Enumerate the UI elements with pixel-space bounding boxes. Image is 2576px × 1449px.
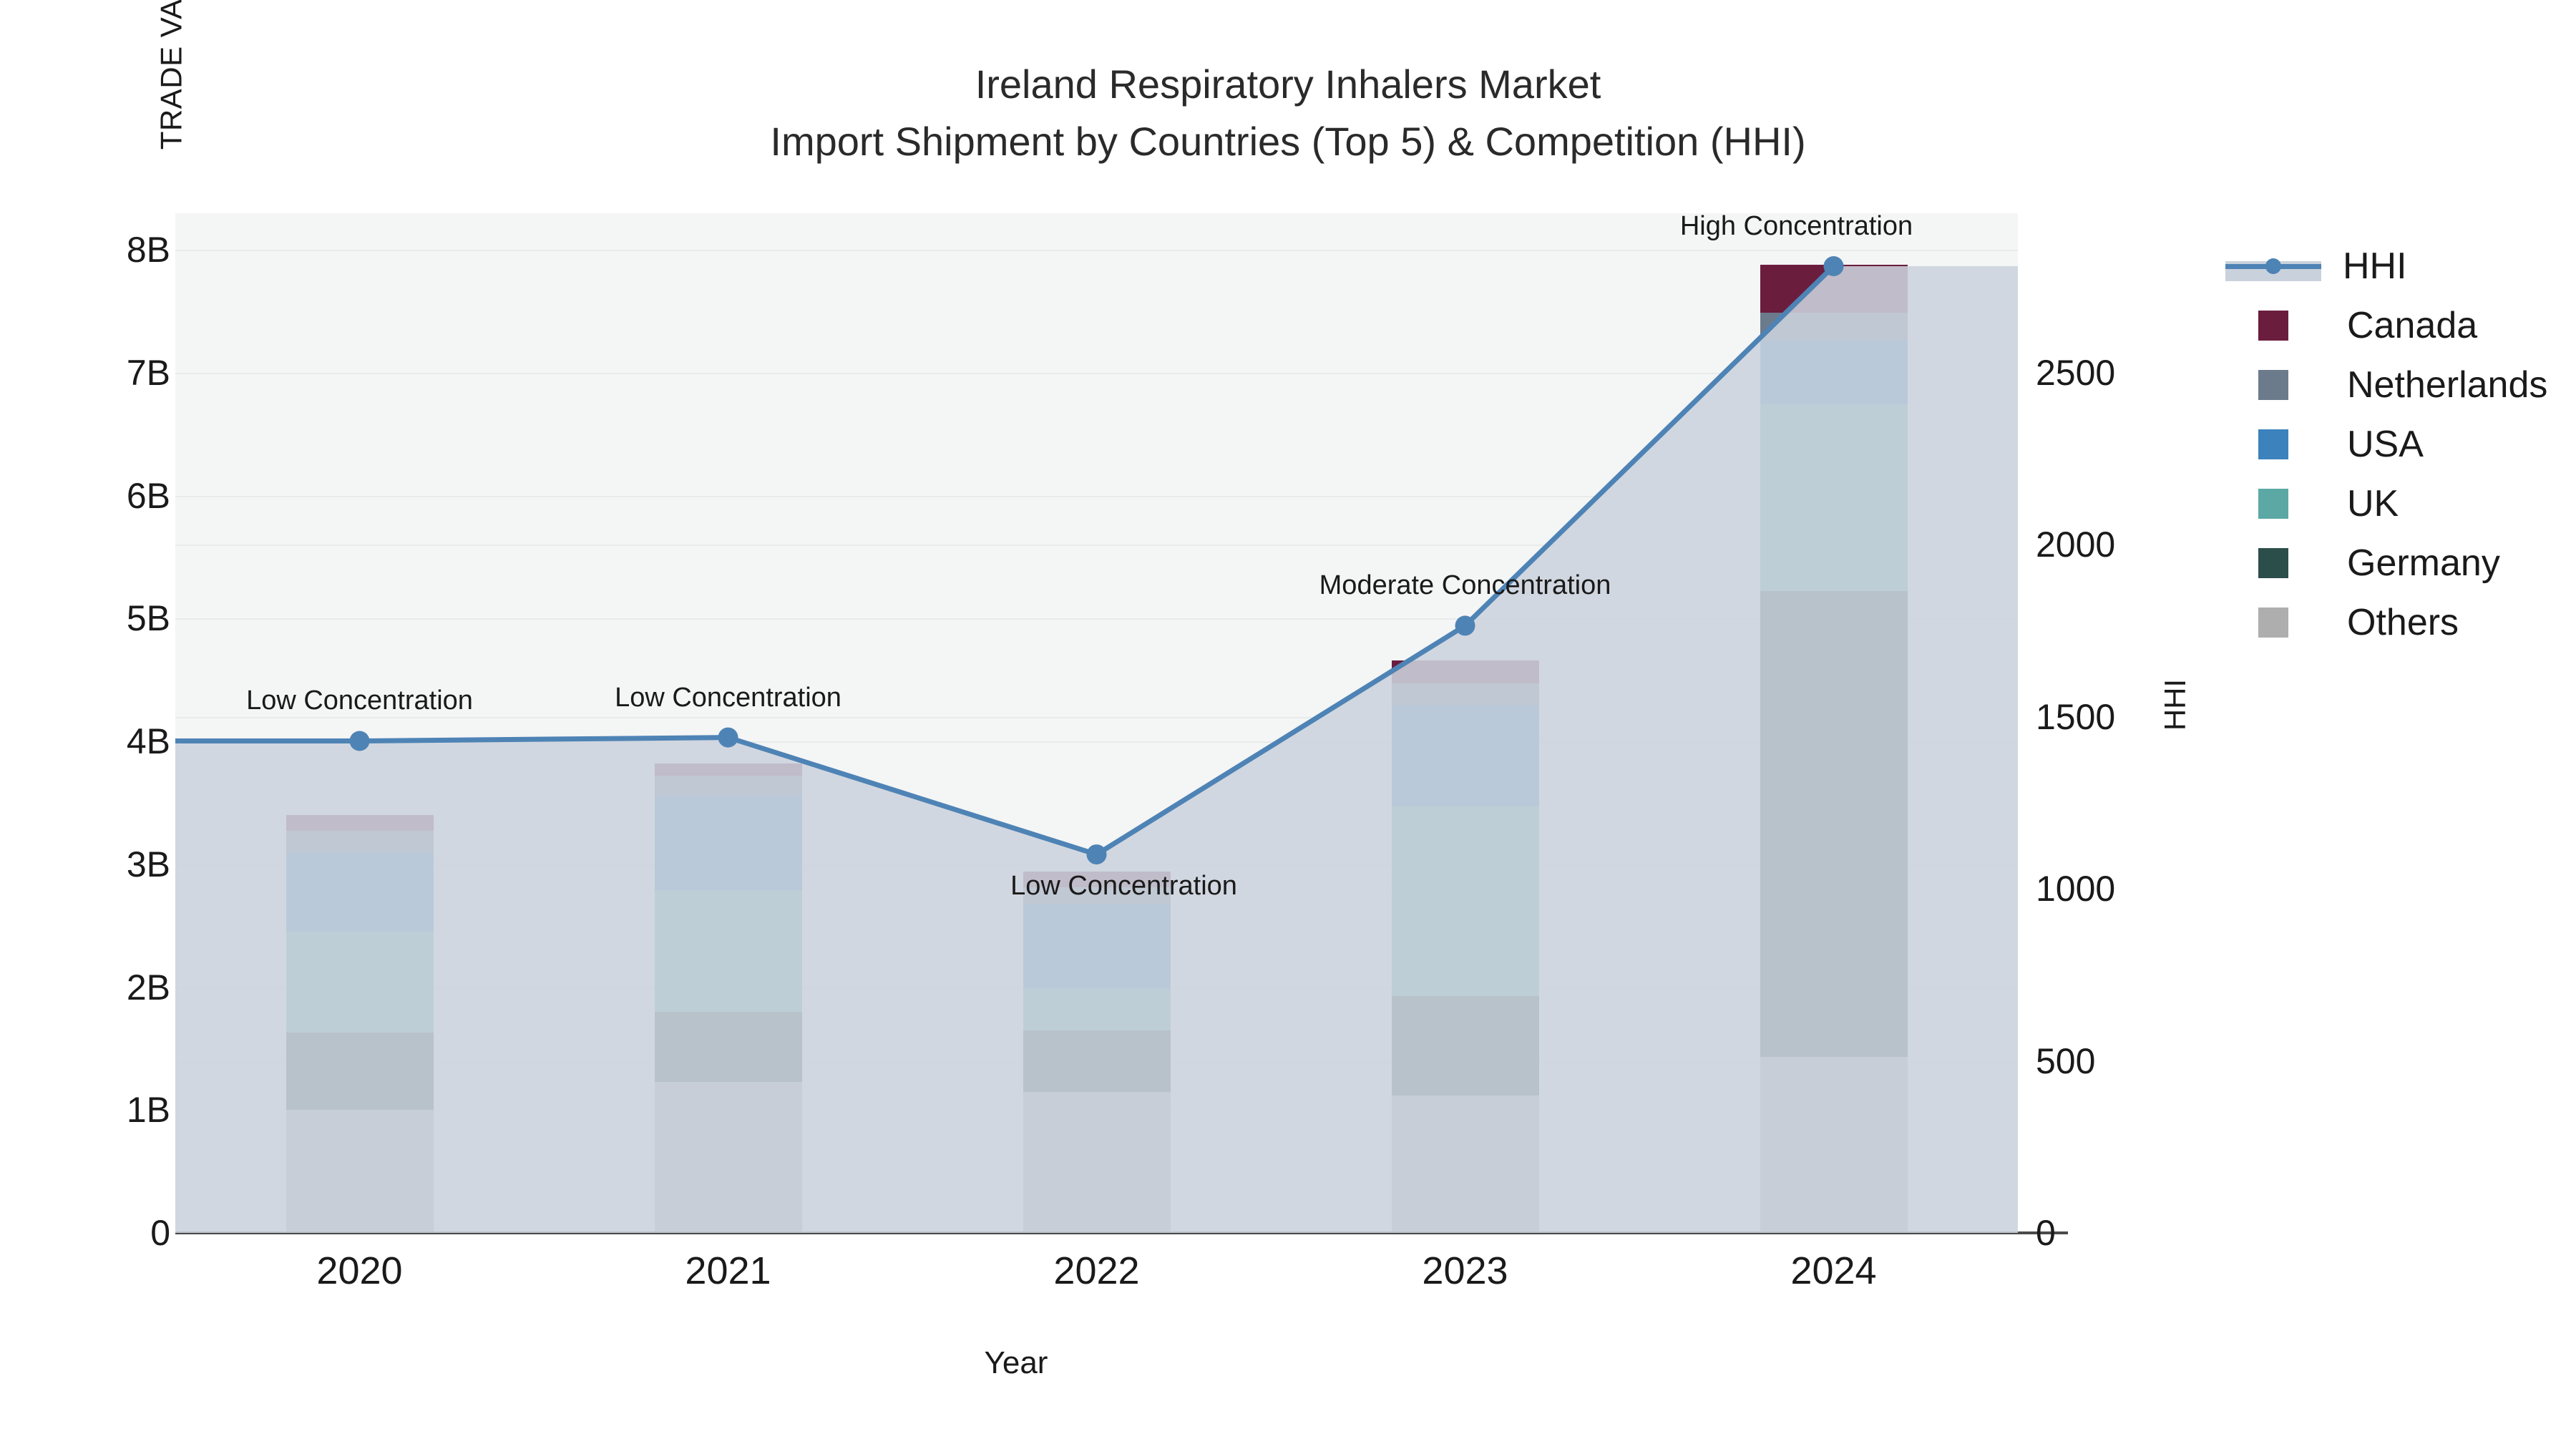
bar-segment-uk-2022[interactable] [1023, 988, 1171, 1030]
legend-label-canada: Canada [2347, 304, 2477, 347]
x-axis-line [175, 1231, 2068, 1234]
y-tick-left-8B: 8B [0, 229, 170, 270]
legend-label-netherlands: Netherlands [2347, 364, 2547, 406]
y-tick-left-7B: 7B [0, 352, 170, 394]
legend-swatch-usa [2258, 429, 2288, 459]
hhi-annotation-2021: Low Concentration [615, 683, 841, 713]
bar-segment-usa-2021[interactable] [655, 796, 802, 890]
bar-segment-germany-2021[interactable] [655, 1012, 802, 1082]
y-tick-left-2B: 2B [0, 967, 170, 1008]
legend-item-others[interactable]: Others [2225, 592, 2547, 652]
y-tick-left-5B: 5B [0, 597, 170, 639]
bar-stack-2020[interactable] [286, 213, 434, 1233]
bar-segment-netherlands-2023[interactable] [1392, 683, 1539, 706]
y-axis-right: 05001000150020002500 [2029, 0, 2265, 1449]
legend-item-hhi[interactable]: HHI [2225, 236, 2547, 296]
bar-stack-2023[interactable] [1392, 213, 1539, 1233]
legend-item-netherlands[interactable]: Netherlands [2225, 355, 2547, 414]
bar-segment-canada-2024[interactable] [1760, 265, 1908, 313]
legend-swatch-uk [2258, 489, 2288, 519]
bar-segment-usa-2020[interactable] [286, 852, 434, 932]
y-tick-left-3B: 3B [0, 844, 170, 885]
bar-segment-germany-2023[interactable] [1392, 996, 1539, 1096]
bar-segment-canada-2020[interactable] [286, 815, 434, 831]
bar-segment-netherlands-2024[interactable] [1760, 313, 1908, 341]
bar-segment-germany-2022[interactable] [1023, 1030, 1171, 1092]
legend-swatch-canada [2258, 311, 2288, 341]
legend-item-uk[interactable]: UK [2225, 474, 2547, 533]
hhi-annotation-2024: High Concentration [1680, 211, 1913, 242]
legend-label-usa: USA [2347, 423, 2424, 466]
legend-label-others: Others [2347, 601, 2459, 644]
hhi-annotation-2022: Low Concentration [1010, 871, 1237, 902]
y-tick-right-500: 500 [2036, 1040, 2272, 1082]
chart-legend: HHICanadaNetherlandsUSAUKGermanyOthers [2225, 236, 2547, 652]
y-tick-right-1000: 1000 [2036, 868, 2272, 909]
bar-segment-others-2020[interactable] [286, 1110, 434, 1233]
y-tick-right-0: 0 [2036, 1212, 2272, 1254]
bar-segment-netherlands-2020[interactable] [286, 831, 434, 852]
y-axis-left-label: TRADE VALUE (US$) [0, 0, 896, 150]
bar-stack-2022[interactable] [1023, 213, 1171, 1233]
bar-segment-canada-2021[interactable] [655, 763, 802, 776]
x-tick-2021: 2021 [685, 1249, 771, 1293]
plot-area [175, 213, 2018, 1233]
bar-segment-canada-2023[interactable] [1392, 660, 1539, 684]
legend-swatch-netherlands [2258, 370, 2288, 400]
bar-stack-2021[interactable] [655, 213, 802, 1233]
legend-swatch-germany [2258, 548, 2288, 578]
bar-segment-others-2022[interactable] [1023, 1092, 1171, 1234]
x-tick-2022: 2022 [1053, 1249, 1139, 1293]
bar-segment-usa-2023[interactable] [1392, 706, 1539, 806]
legend-label-germany: Germany [2347, 542, 2500, 585]
legend-item-canada[interactable]: Canada [2225, 296, 2547, 355]
bar-segment-uk-2020[interactable] [286, 932, 434, 1033]
x-axis-label: Year [0, 1345, 2032, 1381]
y-axis-right-label: HHI [2158, 679, 2192, 731]
legend-line-key-icon [2225, 251, 2321, 281]
bar-segment-others-2021[interactable] [655, 1082, 802, 1233]
bar-segment-germany-2020[interactable] [286, 1033, 434, 1110]
legend-label-uk: UK [2347, 482, 2399, 525]
bar-segment-uk-2023[interactable] [1392, 806, 1539, 995]
legend-item-germany[interactable]: Germany [2225, 533, 2547, 592]
bar-segment-others-2023[interactable] [1392, 1096, 1539, 1233]
bar-segment-usa-2024[interactable] [1760, 341, 1908, 404]
y-tick-right-1500: 1500 [2036, 696, 2272, 738]
y-tick-left-1B: 1B [0, 1089, 170, 1131]
x-tick-2020: 2020 [316, 1249, 402, 1293]
bar-segment-netherlands-2021[interactable] [655, 776, 802, 795]
legend-item-usa[interactable]: USA [2225, 414, 2547, 474]
hhi-annotation-2020: Low Concentration [246, 686, 473, 716]
y-tick-left-4B: 4B [0, 721, 170, 762]
y-tick-left-0: 0 [0, 1212, 170, 1254]
x-tick-2023: 2023 [1422, 1249, 1508, 1293]
legend-swatch-others [2258, 608, 2288, 638]
bar-segment-uk-2021[interactable] [655, 890, 802, 1012]
legend-label-hhi: HHI [2343, 245, 2407, 288]
y-axis-left: 01B2B3B4B5B6B7B8B [0, 0, 172, 1449]
bar-stack-2024[interactable] [1760, 213, 1908, 1233]
x-tick-2024: 2024 [1790, 1249, 1876, 1293]
chart-figure: Ireland Respiratory Inhalers Market Impo… [0, 0, 2576, 1449]
y-tick-left-6B: 6B [0, 475, 170, 517]
bar-segment-usa-2022[interactable] [1023, 904, 1171, 988]
bar-segment-others-2024[interactable] [1760, 1057, 1908, 1233]
bar-segment-germany-2024[interactable] [1760, 591, 1908, 1057]
hhi-annotation-2023: Moderate Concentration [1319, 570, 1611, 601]
bar-segment-uk-2024[interactable] [1760, 404, 1908, 591]
